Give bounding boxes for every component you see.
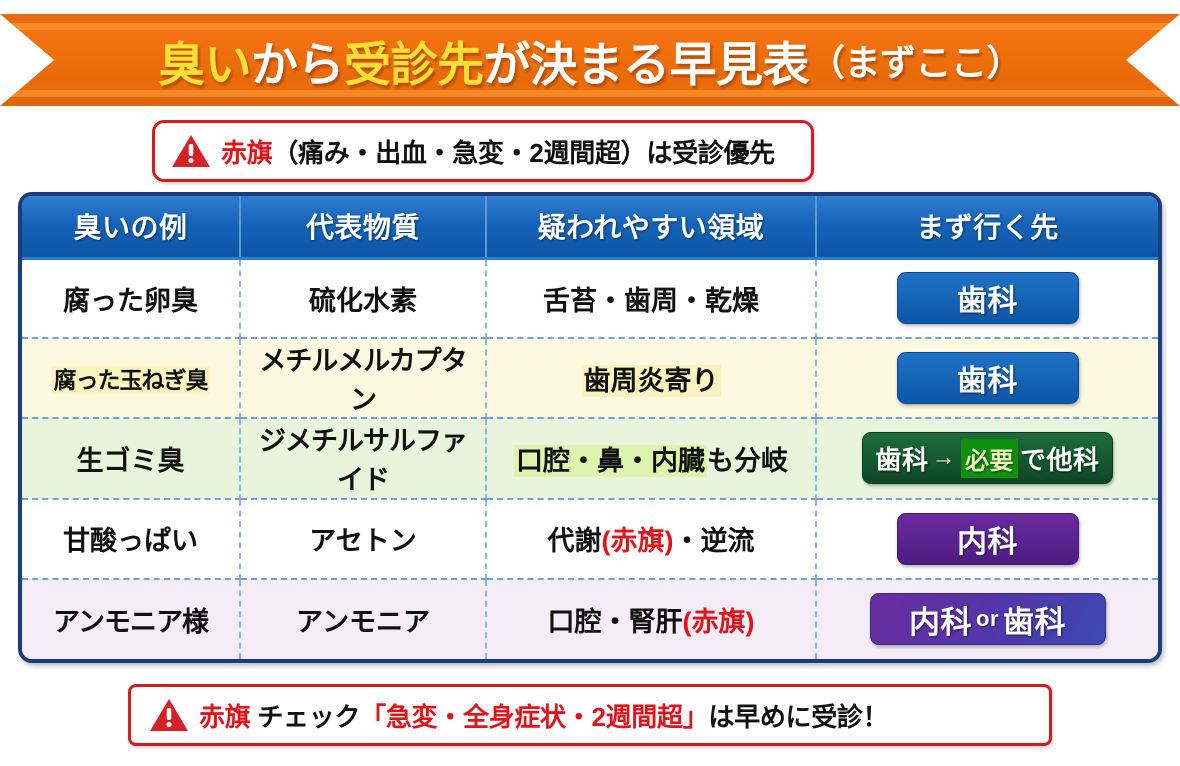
- cell-substance: アセトン: [240, 499, 486, 579]
- destination-badge[interactable]: 内科or歯科: [870, 593, 1106, 645]
- column-header-area: 疑われやすい領域: [486, 196, 816, 258]
- table-row: アンモニア様 アンモニア 口腔・腎肝(赤旗) 内科or歯科: [22, 579, 1158, 659]
- red-flag-paren: （痛み・出血・急変・2週間超）: [272, 138, 646, 168]
- red-flag-notice-top-text: 赤旗（痛み・出血・急変・2週間超）は受診優先: [221, 133, 775, 170]
- cell-substance: 硫化水素: [240, 258, 486, 338]
- cell-destination: 歯科: [816, 258, 1158, 338]
- badge-tail: で他科: [1020, 440, 1100, 477]
- badge-head: 歯科: [875, 440, 928, 477]
- warning-triangle-icon: [149, 697, 189, 733]
- red-flag-tail: は受診優先: [646, 138, 775, 168]
- red-flag-keyword: 赤旗: [199, 702, 250, 732]
- cell-area-tail: も分岐: [707, 446, 788, 476]
- cell-smell-text: 腐った玉ねぎ臭: [52, 366, 210, 394]
- red-flag-keyword: 赤旗: [221, 138, 272, 168]
- cell-area: 口腔・鼻・内臓も分岐: [486, 418, 816, 498]
- title-banner: 臭いから受診先が決まる早見表（まずここ）: [0, 14, 1180, 106]
- smell-clinic-table: 臭いの例 代表物質 疑われやすい領域 まず行く先 腐った卵臭 硫化水素 舌苔・歯…: [18, 192, 1162, 663]
- cell-area: 舌苔・歯周・乾燥: [486, 258, 816, 338]
- title-part-from: から: [251, 26, 344, 95]
- cell-smell: 腐った玉ねぎ臭: [22, 338, 240, 418]
- cell-smell: 腐った卵臭: [22, 258, 240, 338]
- red-flag-notice-bottom-text: 赤旗 チェック「急変・全身症状・2週間超」は早めに受診！: [199, 697, 888, 734]
- column-header-substance: 代表物質: [240, 196, 486, 258]
- cell-destination: 内科: [816, 499, 1158, 579]
- cell-smell: 生ゴミ臭: [22, 418, 240, 498]
- badge-or: or: [976, 606, 999, 632]
- cell-substance: ジメチルサルファイド: [240, 418, 486, 498]
- column-header-smell: 臭いの例: [22, 196, 240, 258]
- table-row: 生ゴミ臭 ジメチルサルファイド 口腔・鼻・内臓も分岐 歯科→必要で他科: [22, 418, 1158, 498]
- table-row: 甘酸っぱい アセトン 代謝(赤旗)・逆流 内科: [22, 499, 1158, 579]
- title-part-paren: （まずここ）: [809, 34, 1022, 86]
- badge-dest-a: 内科: [909, 597, 972, 642]
- destination-badge[interactable]: 内科: [897, 513, 1079, 565]
- cell-area-highlight: 口腔・鼻・内臓: [514, 445, 707, 477]
- cell-area: 代謝(赤旗)・逆流: [486, 499, 816, 579]
- warning-triangle-icon: [171, 133, 211, 169]
- cell-destination: 内科or歯科: [816, 579, 1158, 659]
- cell-substance: メチルメルカプタン: [240, 338, 486, 418]
- cell-area: 口腔・腎肝(赤旗): [486, 579, 816, 659]
- quote-open: 「: [360, 702, 386, 732]
- check-label: チェック: [250, 702, 360, 732]
- table-row: 腐った玉ねぎ臭 メチルメルカプタン 歯周炎寄り 歯科: [22, 338, 1158, 418]
- red-flag-notice-top: 赤旗（痛み・出血・急変・2週間超）は受診優先: [152, 120, 814, 182]
- cell-smell: 甘酸っぱい: [22, 499, 240, 579]
- title-part-smell: 臭い: [158, 26, 251, 95]
- title-part-decided: が決まる早見表: [483, 26, 809, 95]
- badge-dest-b: 歯科: [1003, 597, 1066, 642]
- cell-destination: 歯科→必要で他科: [816, 418, 1158, 498]
- red-flag-phrase: 急変・全身症状・2週間超: [386, 702, 683, 732]
- title-part-clinic: 受診先: [344, 26, 484, 95]
- table-header-row: 臭いの例 代表物質 疑われやすい領域 まず行く先: [22, 196, 1158, 258]
- column-header-destination: まず行く先: [816, 196, 1158, 258]
- cell-smell: アンモニア様: [22, 579, 240, 659]
- page-title: 臭いから受診先が決まる早見表（まずここ）: [0, 14, 1180, 106]
- destination-badge[interactable]: 歯科: [897, 352, 1079, 404]
- red-flag-notice-bottom: 赤旗 チェック「急変・全身症状・2週間超」は早めに受診！: [128, 684, 1052, 746]
- table-row: 腐った卵臭 硫化水素 舌苔・歯周・乾燥 歯科: [22, 258, 1158, 338]
- cell-area-text: 歯周炎寄り: [582, 365, 721, 397]
- cell-area-post: ・逆流: [673, 526, 754, 556]
- cell-destination: 歯科: [816, 338, 1158, 418]
- badge-highlight: 必要: [961, 439, 1018, 478]
- cell-substance: アンモニア: [240, 579, 486, 659]
- destination-badge[interactable]: 歯科: [897, 272, 1079, 324]
- notice-bottom-tail: は早めに受診！: [708, 702, 888, 732]
- cell-area-redflag: (赤旗): [683, 607, 755, 637]
- cell-area-redflag: (赤旗): [602, 526, 674, 556]
- quote-close: 」: [683, 702, 709, 732]
- cell-area-pre: 口腔・腎肝: [548, 607, 683, 637]
- destination-badge[interactable]: 歯科→必要で他科: [862, 432, 1112, 484]
- arrow-icon: →: [932, 444, 957, 472]
- cell-area: 歯周炎寄り: [486, 338, 816, 418]
- cell-area-pre: 代謝: [548, 526, 602, 556]
